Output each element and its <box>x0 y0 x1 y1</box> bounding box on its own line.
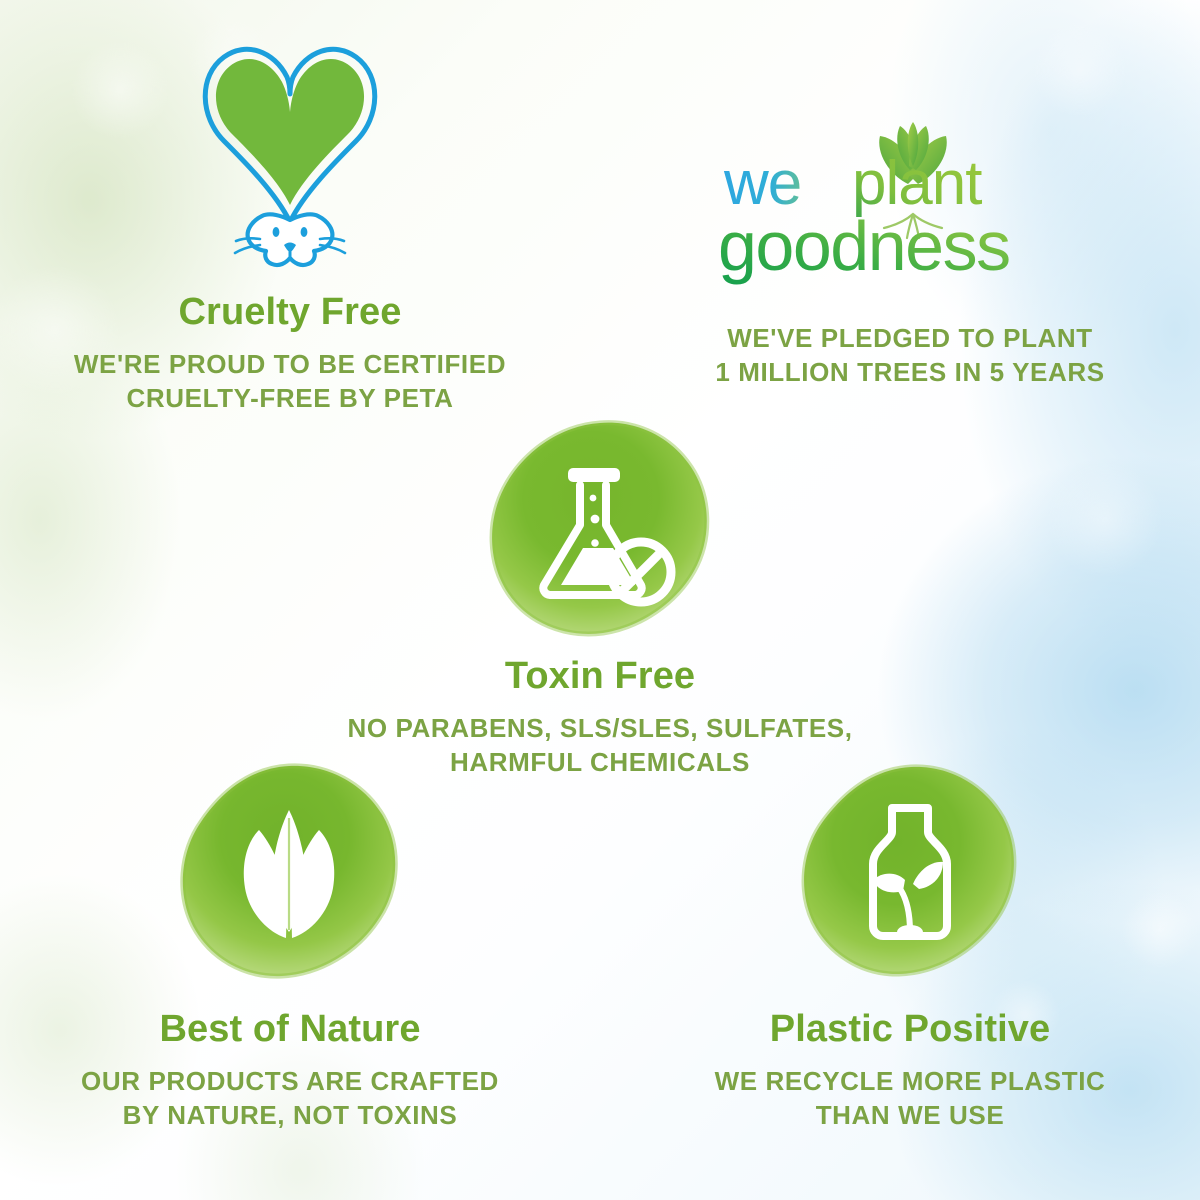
badge-best-of-nature: Best of Nature OUR PRODUCTS ARE CRAFTED … <box>0 760 580 1133</box>
badge-title-best-of-nature: Best of Nature <box>0 1010 580 1048</box>
we-plant-goodness-logo: we plant goodness <box>620 120 1200 300</box>
badge-plant-goodness: we plant goodness WE'VE PLEDGED TO PLANT… <box>620 120 1200 390</box>
peta-bunny-heart-icon <box>0 30 580 275</box>
badge-cruelty-free: Cruelty Free WE'RE PROUD TO BE CERTIFIED… <box>0 30 580 416</box>
badge-description-plant-goodness: WE'VE PLEDGED TO PLANT 1 MILLION TREES I… <box>620 322 1200 390</box>
badge-title-toxin-free: Toxin Free <box>310 657 890 695</box>
flask-no-entry-icon <box>485 415 715 645</box>
badge-title-plastic-positive: Plastic Positive <box>620 1010 1200 1048</box>
three-leaves-icon <box>175 760 405 990</box>
bottle-sprout-icon <box>795 760 1025 990</box>
badge-description-cruelty-free: WE'RE PROUD TO BE CERTIFIED CRUELTY-FREE… <box>0 348 580 416</box>
badge-title-cruelty-free: Cruelty Free <box>0 293 580 331</box>
badge-toxin-free: Toxin Free No PARABENS, SLS/SLES, SULFAT… <box>310 415 890 780</box>
badge-description-best-of-nature: OUR PRODUCTS ARE CRAFTED BY NATURE, NOT … <box>0 1065 580 1133</box>
badge-plastic-positive: Plastic Positive WE RECYCLE MORE PLASTIC… <box>620 760 1200 1133</box>
svg-text:goodness: goodness <box>718 207 1010 285</box>
badge-description-plastic-positive: WE RECYCLE MORE PLASTIC THAN WE USE <box>620 1065 1200 1133</box>
infographic-content: Cruelty Free WE'RE PROUD TO BE CERTIFIED… <box>0 0 1200 1200</box>
